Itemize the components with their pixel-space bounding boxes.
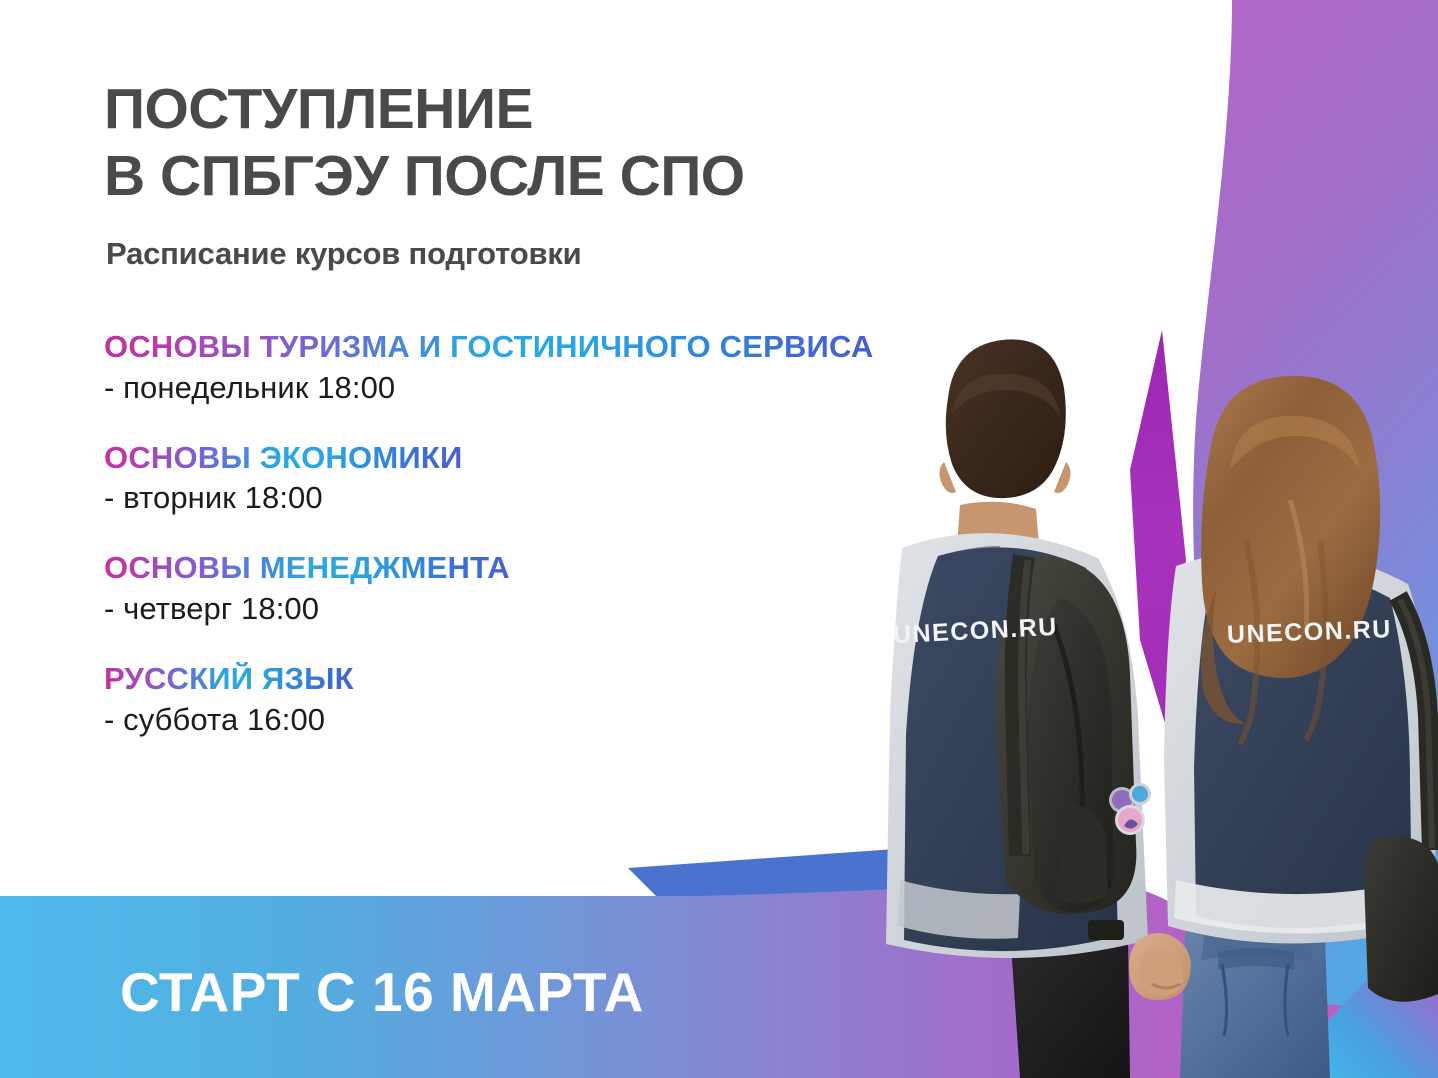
course-time: - вторник 18:00 <box>104 480 1104 516</box>
course-title: ОСНОВЫ ЭКОНОМИКИ <box>104 441 462 476</box>
course-time: - четверг 18:00 <box>104 591 1104 627</box>
subtitle: Расписание курсов подготовки <box>106 236 582 272</box>
course-item: РУССКИЙ ЯЗЫК - суббота 16:00 <box>104 662 1104 738</box>
course-time: - суббота 16:00 <box>104 702 1104 738</box>
course-schedule-list: ОСНОВЫ ТУРИЗМА И ГОСТИНИЧНОГО СЕРВИСА - … <box>104 330 1104 738</box>
course-title: РУССКИЙ ЯЗЫК <box>104 662 354 697</box>
page-title: ПОСТУПЛЕНИЕ В СПБГЭУ ПОСЛЕ СПО <box>104 76 1004 209</box>
held-hands <box>1129 933 1191 1000</box>
course-title: ОСНОВЫ МЕНЕДЖМЕНТА <box>104 551 510 586</box>
course-item: ОСНОВЫ ТУРИЗМА И ГОСТИНИЧНОГО СЕРВИСА - … <box>104 330 1104 406</box>
headline-line-1: ПОСТУПЛЕНИЕ <box>104 77 533 141</box>
headline-line-2: В СПБГЭУ ПОСЛЕ СПО <box>104 143 1004 210</box>
course-title: ОСНОВЫ ТУРИЗМА И ГОСТИНИЧНОГО СЕРВИСА <box>104 330 873 365</box>
course-item: ОСНОВЫ МЕНЕДЖМЕНТА - четверг 18:00 <box>104 551 1104 627</box>
jacket-right-logo-text: UNECON.RU <box>1227 615 1393 650</box>
course-time: - понедельник 18:00 <box>104 370 1104 406</box>
poster-canvas: UNECON.RU UNECON.RU ПОСТУПЛЕНИЕ В СПБГЭУ… <box>0 0 1438 1078</box>
course-item: ОСНОВЫ ЭКОНОМИКИ - вторник 18:00 <box>104 441 1104 517</box>
start-date-banner-text: СТАРТ С 16 МАРТА <box>120 960 644 1024</box>
